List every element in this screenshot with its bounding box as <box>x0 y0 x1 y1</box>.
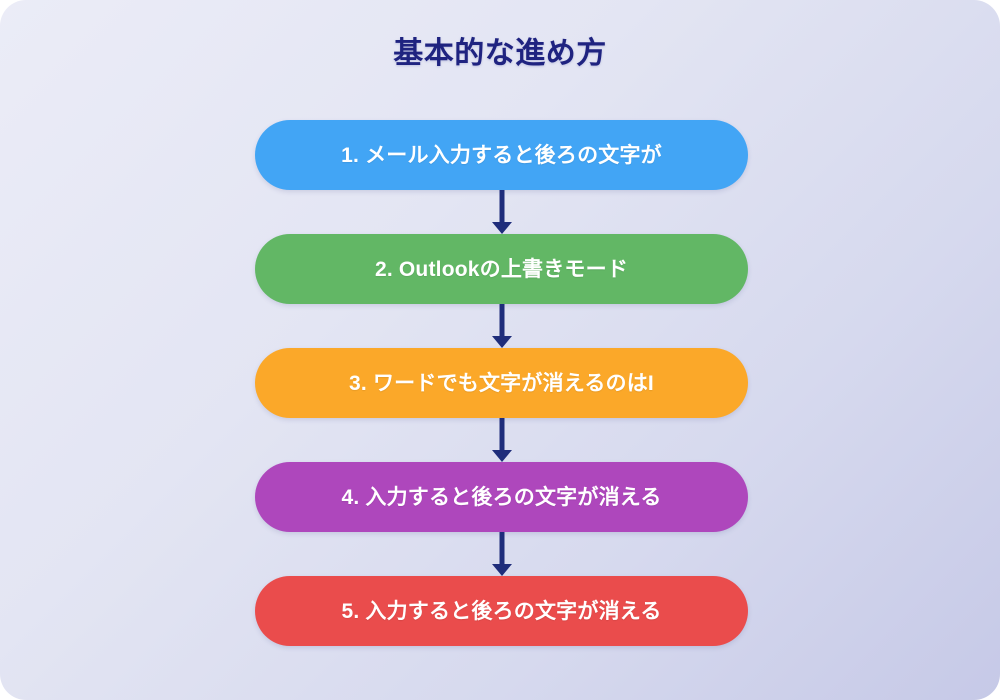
step-label-3: 3. ワードでも文字が消えるのはI <box>349 373 654 394</box>
flowchart-step-2[interactable]: 2. Outlookの上書きモード <box>255 234 748 304</box>
flowchart-canvas: 基本的な進め方 1. メール入力すると後ろの文字が 2. Outlookの上書き… <box>0 0 1000 700</box>
page-title: 基本的な進め方 <box>0 28 1000 72</box>
connector-arrow-2-to-3 <box>255 304 748 348</box>
connector-arrow-4-to-5 <box>255 532 748 576</box>
flowchart-step-4[interactable]: 4. 入力すると後ろの文字が消える <box>255 462 748 532</box>
flowchart-step-1[interactable]: 1. メール入力すると後ろの文字が <box>255 120 748 190</box>
arrow-head-icon <box>492 222 512 234</box>
arrow-stem-icon <box>499 304 504 338</box>
flowchart-steps-list: 1. メール入力すると後ろの文字が 2. Outlookの上書きモード 3. ワ… <box>255 120 748 646</box>
step-label-4: 4. 入力すると後ろの文字が消える <box>341 487 661 508</box>
step-box-5[interactable]: 5. 入力すると後ろの文字が消える <box>255 576 748 646</box>
flowchart-step-3[interactable]: 3. ワードでも文字が消えるのはI <box>255 348 748 418</box>
arrow-stem-icon <box>499 190 504 224</box>
step-label-2: 2. Outlookの上書きモード <box>375 259 628 280</box>
arrow-stem-icon <box>499 418 504 452</box>
arrow-head-icon <box>492 450 512 462</box>
connector-arrow-3-to-4 <box>255 418 748 462</box>
arrow-stem-icon <box>499 532 504 566</box>
step-box-3[interactable]: 3. ワードでも文字が消えるのはI <box>255 348 748 418</box>
step-label-1: 1. メール入力すると後ろの文字が <box>341 145 662 166</box>
step-box-1[interactable]: 1. メール入力すると後ろの文字が <box>255 120 748 190</box>
arrow-head-icon <box>492 564 512 576</box>
step-box-2[interactable]: 2. Outlookの上書きモード <box>255 234 748 304</box>
flowchart-step-5[interactable]: 5. 入力すると後ろの文字が消える <box>255 576 748 646</box>
connector-arrow-1-to-2 <box>255 190 748 234</box>
arrow-head-icon <box>492 336 512 348</box>
step-label-5: 5. 入力すると後ろの文字が消える <box>341 601 661 622</box>
step-box-4[interactable]: 4. 入力すると後ろの文字が消える <box>255 462 748 532</box>
